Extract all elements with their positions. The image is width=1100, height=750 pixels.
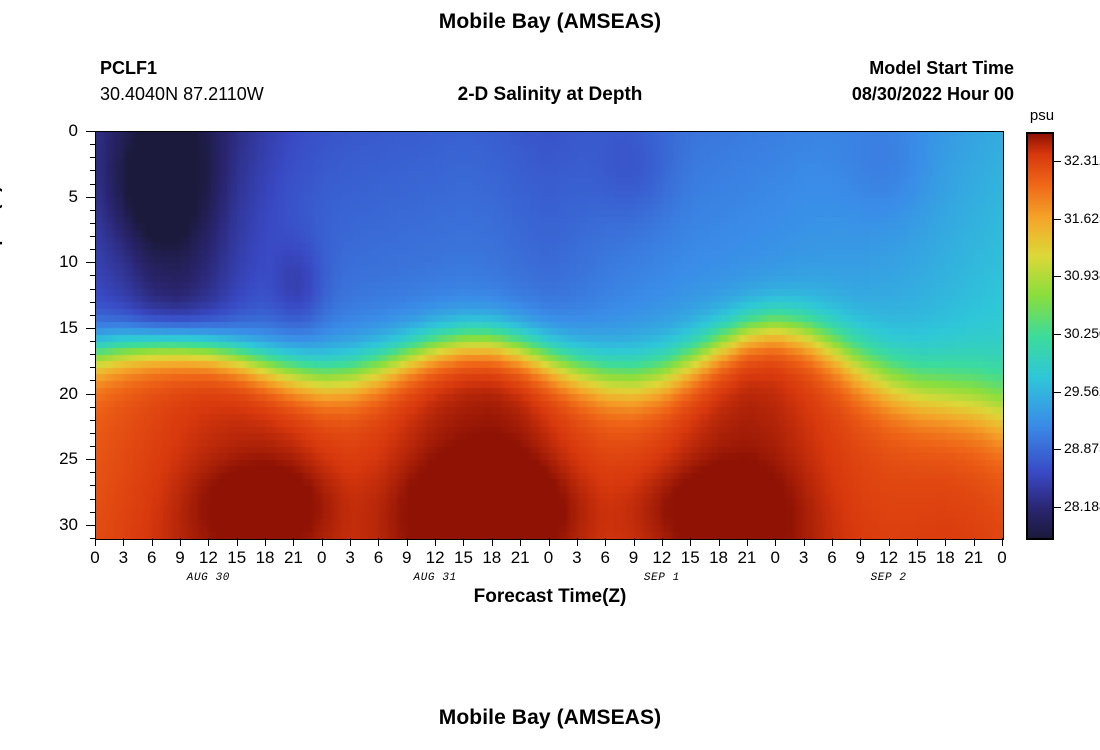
x-axis-tick-label: 6 (363, 548, 393, 568)
y-axis-tick (86, 131, 95, 132)
y-axis-tick-label: 15 (38, 318, 78, 338)
x-axis-tick-label: 18 (250, 548, 280, 568)
x-axis-tick-label: 21 (505, 548, 535, 568)
y-axis-tick (86, 394, 95, 395)
x-axis-tick-label: 12 (420, 548, 450, 568)
y-axis-tick (86, 197, 95, 198)
x-axis-tick-label: 12 (647, 548, 677, 568)
x-axis-tick-label: 0 (534, 548, 564, 568)
colorbar-tick-label: 29.562 (1064, 383, 1100, 399)
y-axis-tick-label: 20 (38, 384, 78, 404)
y-axis-tick-label: 25 (38, 449, 78, 469)
colorbar-tick-label: 28.875 (1064, 440, 1100, 456)
x-axis-tick-label: 18 (930, 548, 960, 568)
x-axis-tick-label: 9 (619, 548, 649, 568)
y-axis-tick (86, 262, 95, 263)
y-axis-tick (86, 328, 95, 329)
page-title: Mobile Bay (AMSEAS) (0, 10, 1100, 34)
model-start-value: 08/30/2022 Hour 00 (852, 82, 1014, 108)
x-axis-tick-label: 18 (477, 548, 507, 568)
x-axis-tick-label: 15 (902, 548, 932, 568)
colorbar-canvas (1028, 134, 1052, 538)
x-axis-tick-label: 9 (165, 548, 195, 568)
x-axis-tick-label: 6 (590, 548, 620, 568)
x-axis-tick-label: 9 (845, 548, 875, 568)
y-axis-tick-label: 5 (38, 187, 78, 207)
y-axis-label: Depth (ft) (0, 186, 4, 270)
colorbar (1026, 132, 1054, 540)
x-axis-tick-label: 3 (562, 548, 592, 568)
station-id: PCLF1 (100, 56, 264, 82)
y-axis-tick-label: 30 (38, 515, 78, 535)
x-axis-tick-label: 21 (278, 548, 308, 568)
bottom-title: Mobile Bay (AMSEAS) (0, 706, 1100, 730)
x-axis-tick-label: 21 (732, 548, 762, 568)
x-axis-date-label: AUG 31 (390, 572, 480, 584)
y-axis-tick (86, 459, 95, 460)
x-axis-date-label: AUG 30 (163, 572, 253, 584)
y-axis-tick-label: 0 (38, 121, 78, 141)
x-axis-tick-label: 3 (335, 548, 365, 568)
x-axis-tick-label: 3 (789, 548, 819, 568)
colorbar-tick-label: 30.938 (1064, 267, 1100, 283)
x-axis-tick-label: 15 (222, 548, 252, 568)
x-axis-tick-label: 12 (193, 548, 223, 568)
colorbar-unit-label: psu (1020, 107, 1064, 124)
x-axis-date-label: SEP 1 (617, 572, 707, 584)
heatmap-canvas (96, 132, 1003, 539)
x-axis-tick-label: 21 (959, 548, 989, 568)
x-axis-tick-label: 0 (307, 548, 337, 568)
x-axis-tick-label: 6 (817, 548, 847, 568)
x-axis-tick-label: 0 (987, 548, 1017, 568)
y-axis-tick (86, 525, 95, 526)
y-axis-tick-label: 10 (38, 252, 78, 272)
colorbar-tick-label: 32.312 (1064, 152, 1100, 168)
colorbar-tick-label: 30.250 (1064, 325, 1100, 341)
model-start-header: Model Start Time 08/30/2022 Hour 00 (852, 56, 1014, 107)
colorbar-tick-label: 31.625 (1064, 210, 1100, 226)
x-axis-date-label: SEP 2 (844, 572, 934, 584)
x-axis-tick-label: 6 (137, 548, 167, 568)
model-start-label: Model Start Time (852, 56, 1014, 82)
x-axis-tick-label: 0 (80, 548, 110, 568)
x-axis-tick-label: 0 (760, 548, 790, 568)
x-axis-tick-label: 9 (392, 548, 422, 568)
x-axis-tick-label: 12 (874, 548, 904, 568)
x-axis-tick-label: 15 (448, 548, 478, 568)
colorbar-tick-label: 28.188 (1064, 498, 1100, 514)
x-axis-tick-label: 15 (675, 548, 705, 568)
x-axis-tick-label: 3 (108, 548, 138, 568)
x-axis-label: Forecast Time(Z) (0, 586, 1100, 608)
x-axis-tick-label: 18 (704, 548, 734, 568)
salinity-heatmap-plot (95, 131, 1004, 540)
